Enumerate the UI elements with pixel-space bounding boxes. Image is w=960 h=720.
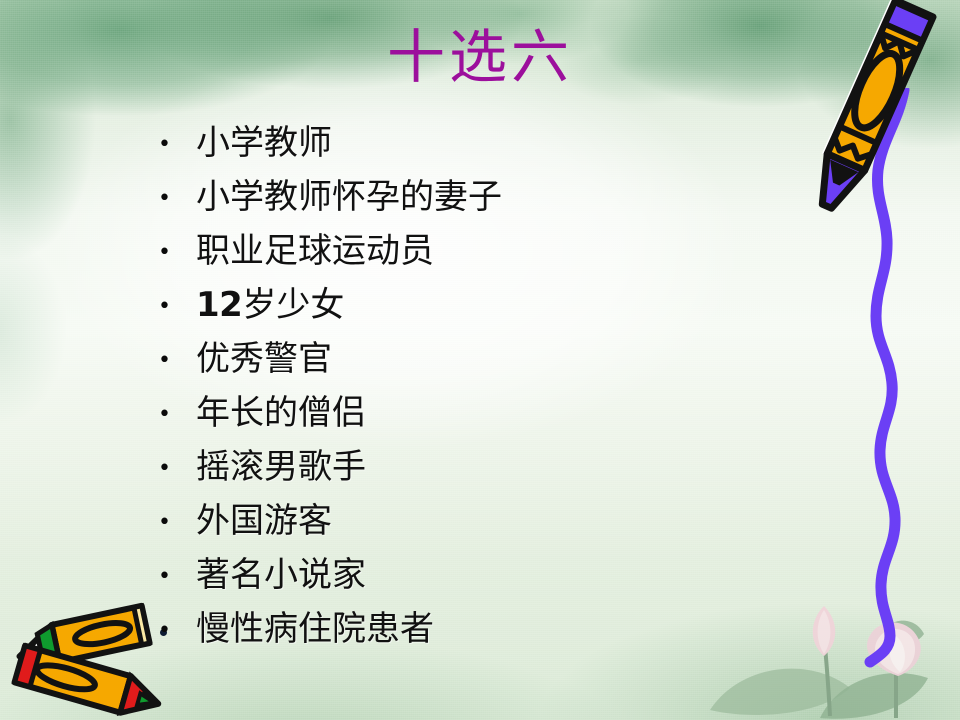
bullet-dot-icon: • bbox=[158, 231, 196, 275]
bullet-dot-icon: • bbox=[158, 177, 196, 221]
crayon-red-icon bbox=[15, 646, 164, 720]
list-item-label: 职业足球运动员 bbox=[196, 229, 434, 273]
list-item-label: 摇滚男歌手 bbox=[196, 445, 366, 489]
list-item-label: 慢性病住院患者 bbox=[196, 607, 434, 651]
bullet-dot-icon: • bbox=[158, 339, 196, 383]
list-item: •小学教师怀孕的妻子 bbox=[158, 175, 858, 229]
list-item: •小学教师 bbox=[158, 121, 858, 175]
bullet-dot-icon: • bbox=[158, 609, 196, 653]
list-item: •外国游客 bbox=[158, 499, 858, 553]
list-item: •12岁少女 bbox=[158, 283, 858, 337]
purple-wavy-line-icon bbox=[856, 88, 926, 668]
list-item: •摇滚男歌手 bbox=[158, 445, 858, 499]
list-item: •慢性病住院患者 bbox=[158, 607, 858, 661]
list-item-label: 年长的僧侣 bbox=[196, 391, 366, 435]
crossed-crayons-icon bbox=[0, 582, 177, 720]
slide-canvas: 十选六 •小学教师•小学教师怀孕的妻子•职业足球运动员•12岁少女•优秀警官•年… bbox=[0, 0, 960, 720]
page-title: 十选六 bbox=[0, 24, 960, 91]
option-list: •小学教师•小学教师怀孕的妻子•职业足球运动员•12岁少女•优秀警官•年长的僧侣… bbox=[158, 121, 858, 661]
list-item: •职业足球运动员 bbox=[158, 229, 858, 283]
bullet-dot-icon: • bbox=[158, 447, 196, 491]
list-item-label: 小学教师 bbox=[196, 121, 332, 165]
crayon-green-icon bbox=[15, 606, 150, 670]
bullet-dot-icon: • bbox=[158, 501, 196, 545]
list-item-label: 著名小说家 bbox=[196, 553, 366, 597]
list-item-numeral: 12 bbox=[196, 285, 242, 325]
list-item-label: 优秀警官 bbox=[196, 337, 332, 381]
list-item-label: 12岁少女 bbox=[196, 283, 344, 327]
list-item-text: 岁少女 bbox=[242, 285, 344, 325]
list-item: •著名小说家 bbox=[158, 553, 858, 607]
list-item: •优秀警官 bbox=[158, 337, 858, 391]
list-item: •年长的僧侣 bbox=[158, 391, 858, 445]
bullet-dot-icon: • bbox=[158, 555, 196, 599]
list-item-label: 小学教师怀孕的妻子 bbox=[196, 175, 502, 219]
bullet-dot-icon: • bbox=[158, 285, 196, 329]
bullet-dot-icon: • bbox=[158, 123, 196, 167]
list-item-label: 外国游客 bbox=[196, 499, 332, 543]
bullet-dot-icon: • bbox=[158, 393, 196, 437]
